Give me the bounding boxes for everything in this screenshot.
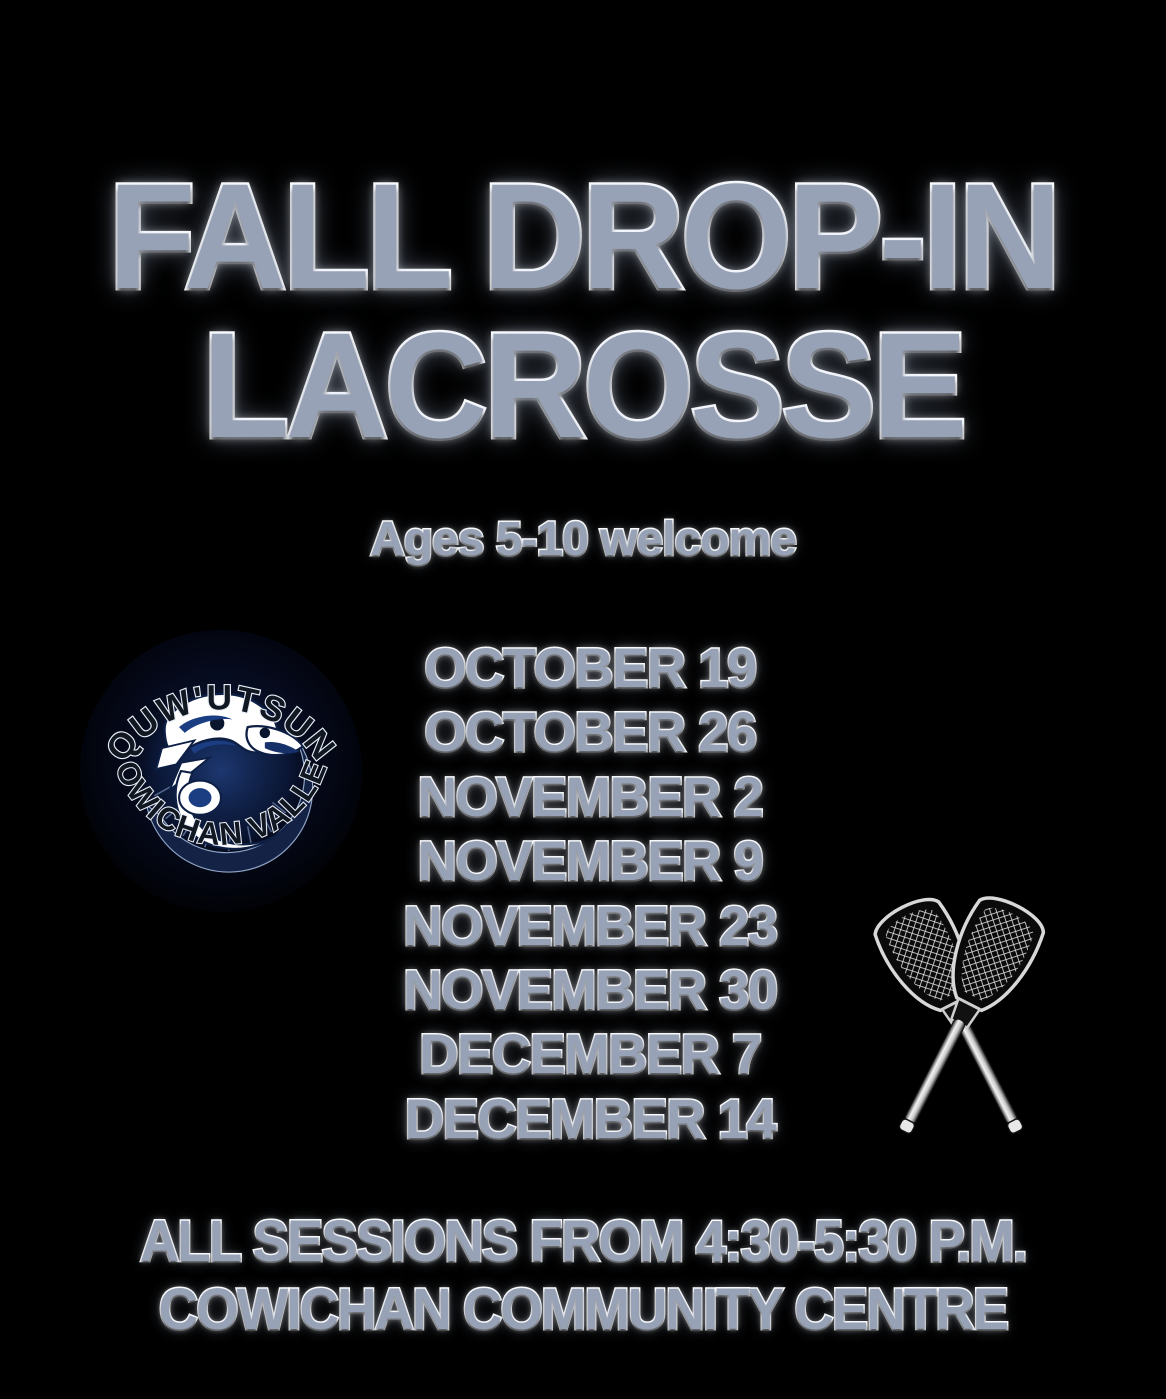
list-item: NOVEMBER 9 (338, 829, 842, 893)
footer-session-time: ALL SESSIONS FROM 4:30-5:30 P.M. (35, 1208, 1131, 1276)
poster-canvas: FALL DROP-IN LACROSSE Ages 5-10 welcome (0, 0, 1166, 1399)
crossed-lacrosse-sticks-icon (822, 880, 1100, 1160)
list-item: DECEMBER 7 (338, 1022, 842, 1086)
session-dates-list: OCTOBER 19 OCTOBER 26 NOVEMBER 2 NOVEMBE… (330, 636, 850, 1151)
subtitle-age-range: Ages 5-10 welcome (0, 512, 1166, 567)
list-item: OCTOBER 26 (338, 700, 842, 764)
title-line-1: FALL DROP-IN (29, 162, 1137, 311)
list-item: NOVEMBER 2 (338, 765, 842, 829)
footer-details: ALL SESSIONS FROM 4:30-5:30 P.M. COWICHA… (0, 1208, 1166, 1345)
quwutsun-cowichan-valley-logo: QUW'UTSUN COWICHAN VALLEY (78, 628, 364, 914)
list-item: NOVEMBER 23 (338, 894, 842, 958)
list-item: DECEMBER 14 (338, 1087, 842, 1151)
title-line-2: LACROSSE (29, 311, 1137, 460)
list-item: NOVEMBER 30 (338, 958, 842, 1022)
list-item: OCTOBER 19 (338, 636, 842, 700)
page-title: FALL DROP-IN LACROSSE (0, 162, 1166, 459)
footer-venue: COWICHAN COMMUNITY CENTRE (35, 1276, 1131, 1344)
